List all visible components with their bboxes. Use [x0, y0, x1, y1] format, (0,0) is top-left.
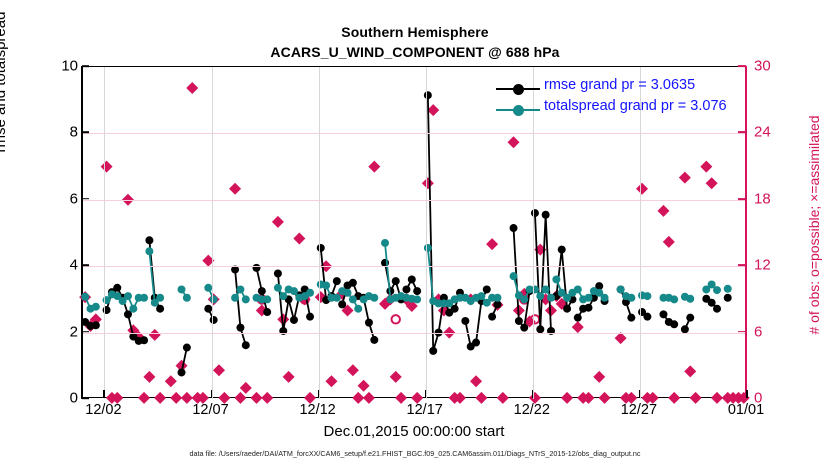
series-point-totalspread [601, 294, 609, 302]
obs-assimilated-marker [283, 371, 295, 383]
series-point-rmse [461, 317, 469, 325]
obs-assimilated-marker [368, 161, 380, 173]
x-axis-label: Dec.01,2015 00:00:00 start [82, 423, 746, 440]
series-point-rmse [145, 236, 153, 244]
series-point-rmse [113, 284, 121, 292]
y-tick-label-right: 24 [754, 124, 794, 141]
x-tick-mark [532, 390, 534, 398]
series-point-rmse [252, 264, 260, 272]
y-tick-mark-left [82, 132, 89, 134]
series-point-rmse [263, 308, 271, 316]
series-point-totalspread [584, 294, 592, 302]
series-point-totalspread [643, 292, 651, 300]
obs-assimilated-marker [497, 392, 509, 404]
series-point-totalspread [263, 295, 271, 303]
series-point-totalspread [129, 305, 137, 313]
gridline-vertical [319, 67, 320, 399]
series-point-totalspread [713, 286, 721, 294]
x-tick-label: 01/01 [728, 402, 764, 418]
series-point-rmse [659, 310, 667, 318]
series-point-rmse [488, 313, 496, 321]
series-point-rmse [92, 321, 100, 329]
series-point-totalspread [231, 294, 239, 302]
obs-assimilated-marker [593, 371, 605, 383]
legend-item-totalspread: totalspread grand pr = 3.076 [496, 99, 744, 120]
series-point-totalspread [627, 294, 635, 302]
y-tick-label-left: 2 [18, 323, 78, 340]
chart-page: Southern Hemisphere ACARS_U_WIND_COMPONE… [0, 0, 830, 470]
y-tick-label-left: 4 [18, 257, 78, 274]
obs-assimilated-marker [352, 392, 364, 404]
series-point-totalspread [279, 292, 287, 300]
obs-assimilated-marker [250, 392, 262, 404]
legend-marker-rmse [513, 84, 524, 95]
series-line-rmse [235, 270, 246, 346]
x-tick-mark [318, 390, 320, 398]
series-point-totalspread [306, 289, 314, 297]
series-point-rmse [558, 246, 566, 254]
series-point-totalspread [617, 285, 625, 293]
series-point-totalspread [370, 294, 378, 302]
obs-assimilated-marker [615, 332, 627, 344]
series-point-rmse [643, 313, 651, 321]
series-point-rmse [242, 341, 250, 349]
y-tick-mark-left [82, 331, 89, 333]
series-point-totalspread [81, 293, 89, 301]
series-point-rmse [392, 277, 400, 285]
obs-assimilated-marker [636, 183, 648, 195]
series-point-rmse [274, 270, 282, 278]
series-point-rmse [574, 314, 582, 322]
y-tick-mark-right [738, 397, 746, 399]
legend-item-rmse: rmse grand pr = 3.0635 [496, 78, 744, 99]
x-tick-label: 12/12 [299, 402, 335, 418]
obs-assimilated-marker [170, 392, 182, 404]
series-point-rmse [724, 294, 732, 302]
series-point-totalspread [536, 292, 544, 300]
series-point-totalspread [183, 294, 191, 302]
series-point-rmse [584, 304, 592, 312]
obs-assimilated-marker [599, 392, 611, 404]
obs-assimilated-marker [572, 321, 584, 333]
obs-assimilated-marker [657, 205, 669, 217]
series-point-rmse [515, 317, 523, 325]
series-point-rmse [670, 320, 678, 328]
gridline-vertical [212, 67, 213, 399]
x-tick-label: 12/07 [192, 402, 228, 418]
y-tick-label-right: 12 [754, 257, 794, 274]
obs-assimilated-marker [395, 392, 407, 404]
legend-label-totalspread: totalspread grand pr = 3.076 [544, 98, 727, 114]
chart-title: Southern Hemisphere [0, 24, 830, 40]
obs-assimilated-marker [138, 392, 150, 404]
y-tick-label-left: 6 [18, 190, 78, 207]
x-tick-label: 12/02 [85, 402, 121, 418]
series-point-totalspread [381, 239, 389, 247]
series-point-rmse [370, 336, 378, 344]
legend-marker-totalspread [513, 105, 524, 116]
obs-assimilated-marker [508, 136, 520, 148]
obs-possible-marker [392, 315, 400, 323]
y-tick-label-left: 0 [18, 390, 78, 407]
series-point-totalspread [290, 287, 298, 295]
obs-assimilated-marker [149, 329, 161, 341]
obs-assimilated-marker [213, 364, 225, 376]
series-point-rmse [713, 305, 721, 313]
y-tick-mark-right [738, 198, 746, 200]
series-point-totalspread [156, 294, 164, 302]
series-point-rmse [258, 287, 266, 295]
series-point-rmse [140, 336, 148, 344]
y-axis-label-left: rmse and totalspread [0, 0, 9, 232]
y-tick-label-right: 30 [754, 58, 794, 75]
x-tick-mark [639, 390, 641, 398]
series-point-rmse [306, 313, 314, 321]
series-point-totalspread [145, 247, 153, 255]
series-point-totalspread [349, 295, 357, 303]
series-point-rmse [349, 279, 357, 287]
y-tick-mark-right [738, 264, 746, 266]
chart-legend: rmse grand pr = 3.0635 totalspread grand… [496, 78, 744, 122]
y-tick-mark-left [82, 397, 89, 399]
obs-assimilated-marker [690, 392, 702, 404]
series-point-totalspread [574, 285, 582, 293]
obs-assimilated-marker [706, 177, 718, 189]
obs-assimilated-marker [234, 392, 246, 404]
series-point-rmse [333, 277, 341, 285]
legend-label-rmse: rmse grand pr = 3.0635 [544, 77, 695, 93]
series-totalspread [81, 239, 732, 313]
x-tick-label: 12/27 [621, 402, 657, 418]
series-point-totalspread [520, 295, 528, 303]
series-point-rmse [686, 314, 694, 322]
gridline-vertical [426, 67, 427, 399]
y-tick-mark-left [82, 198, 89, 200]
series-point-rmse [183, 344, 191, 352]
y-tick-mark-right [738, 331, 746, 333]
series-point-totalspread [493, 294, 501, 302]
series-point-rmse [408, 275, 416, 283]
obs-assimilated-marker [475, 392, 487, 404]
y-tick-label-left: 8 [18, 124, 78, 141]
series-point-totalspread [686, 295, 694, 303]
chart-subtitle: ACARS_U_WIND_COMPONENT @ 688 hPa [0, 44, 830, 60]
obs-assimilated-marker [186, 82, 198, 94]
obs-assimilated-marker [679, 172, 691, 184]
series-point-totalspread [242, 295, 250, 303]
series-point-rmse [178, 368, 186, 376]
series-point-rmse [563, 305, 571, 313]
gridline-horizontal [83, 133, 747, 134]
series-point-totalspread [274, 284, 282, 292]
series-point-rmse [627, 314, 635, 322]
series-point-totalspread [140, 294, 148, 302]
series-point-totalspread [354, 305, 362, 313]
y-tick-label-right: 18 [754, 190, 794, 207]
series-point-rmse [520, 324, 528, 332]
y-tick-mark-left [82, 264, 89, 266]
obs-assimilated-marker [561, 392, 573, 404]
obs-assimilated-marker [422, 177, 434, 189]
data-file-footer: data file: /Users/raeder/DAI/ATM_forcXX/… [0, 449, 830, 458]
obs-assimilated-marker [261, 392, 273, 404]
series-point-rmse [483, 285, 491, 293]
series-point-totalspread [670, 295, 678, 303]
series-point-rmse [472, 339, 480, 347]
obs-assimilated-marker [470, 375, 482, 387]
series-point-rmse [429, 347, 437, 355]
series-point-totalspread [724, 285, 732, 293]
series-point-totalspread [178, 285, 186, 293]
x-tick-mark [746, 390, 748, 398]
gridline-horizontal [83, 200, 747, 201]
obs-assimilated-marker [711, 392, 723, 404]
obs-assimilated-marker [358, 380, 370, 392]
obs-assimilated-marker [325, 375, 337, 387]
series-point-rmse [279, 327, 287, 335]
series-point-totalspread [413, 295, 421, 303]
series-point-rmse [708, 299, 716, 307]
series-point-totalspread [236, 285, 244, 293]
series-point-rmse [547, 327, 555, 335]
obs-assimilated-marker [486, 238, 498, 250]
series-point-rmse [156, 305, 164, 313]
obs-marker-group [79, 82, 750, 404]
series-point-rmse [510, 224, 518, 232]
series-point-rmse [290, 316, 298, 324]
obs-assimilated-marker [229, 183, 241, 195]
y-tick-mark-left [82, 65, 89, 67]
series-point-rmse [236, 324, 244, 332]
x-tick-mark [425, 390, 427, 398]
series-point-totalspread [542, 285, 550, 293]
obs-assimilated-marker [154, 392, 166, 404]
series-point-totalspread [547, 294, 555, 302]
series-point-totalspread [333, 294, 341, 302]
series-point-rmse [365, 319, 373, 327]
obs-assimilated-marker [663, 236, 675, 248]
obs-assimilated-marker [293, 233, 305, 245]
series-point-totalspread [92, 303, 100, 311]
obs-assimilated-marker [363, 392, 375, 404]
series-point-rmse [542, 211, 550, 219]
obs-assimilated-marker [101, 161, 113, 173]
obs-assimilated-marker [181, 392, 193, 404]
obs-assimilated-marker [347, 364, 359, 376]
series-point-totalspread [344, 289, 352, 297]
y-tick-label-left: 10 [18, 58, 78, 75]
gridline-horizontal [83, 266, 747, 267]
right-axis-spine [745, 66, 747, 399]
obs-assimilated-marker [240, 382, 252, 394]
obs-assimilated-marker [684, 365, 696, 377]
obs-assimilated-marker [143, 371, 155, 383]
series-point-rmse [413, 287, 421, 295]
y-tick-label-right: 6 [754, 323, 794, 340]
y-tick-mark-right [738, 65, 746, 67]
series-point-totalspread [477, 292, 485, 300]
obs-assimilated-marker [668, 392, 680, 404]
series-point-rmse [402, 285, 410, 293]
x-tick-mark [103, 390, 105, 398]
obs-assimilated-marker [700, 161, 712, 173]
obs-assimilated-marker [165, 375, 177, 387]
x-tick-label: 12/17 [407, 402, 443, 418]
obs-assimilated-marker [272, 216, 284, 228]
series-point-totalspread [510, 272, 518, 280]
gridline-vertical [104, 67, 105, 399]
series-point-totalspread [322, 281, 330, 289]
series-point-totalspread [124, 292, 132, 300]
x-tick-mark [211, 390, 213, 398]
x-tick-label: 12/22 [514, 402, 550, 418]
y-tick-mark-right [738, 131, 746, 133]
series-point-rmse [338, 300, 346, 308]
y-axis-label-right: # of obs: o=possible; ×=assimilated [806, 60, 822, 390]
obs-assimilated-marker [390, 371, 402, 383]
series-point-totalspread [552, 275, 560, 283]
gridline-horizontal [83, 333, 747, 334]
